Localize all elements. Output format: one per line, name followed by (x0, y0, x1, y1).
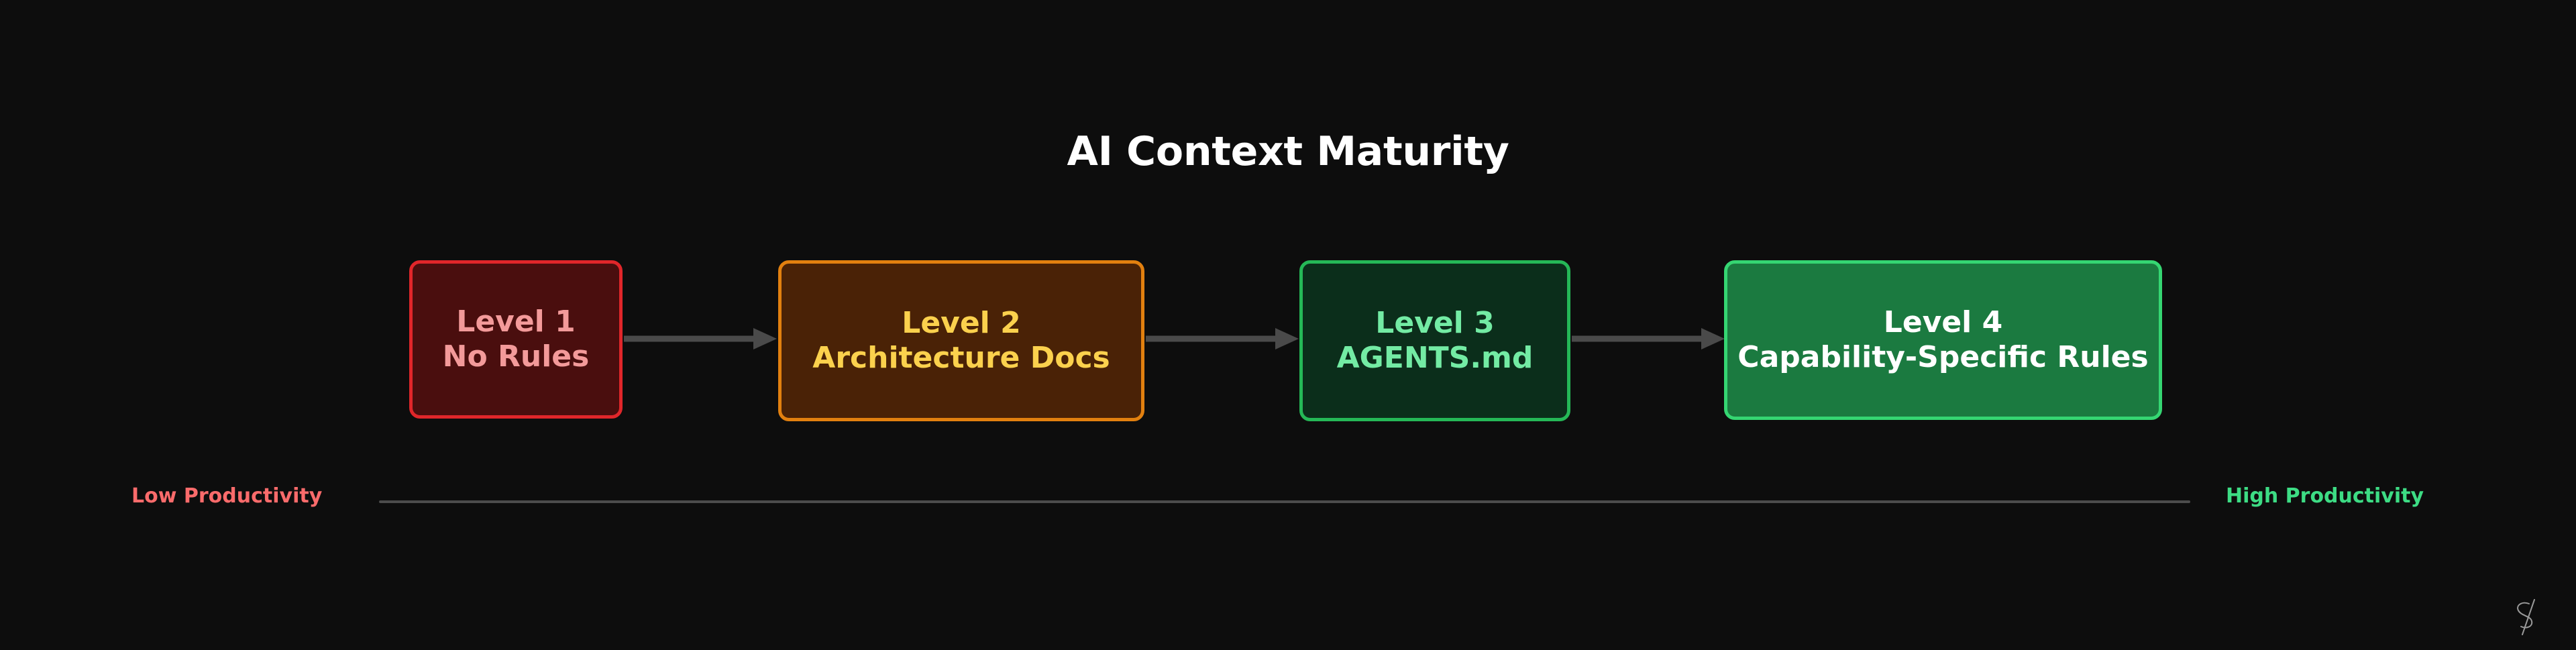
stage-3-subtitle: AGENTS.md (1337, 341, 1534, 376)
arrow-level2-to-level3 (1146, 325, 1299, 352)
signature-watermark-icon (2509, 597, 2544, 639)
diagram-canvas: AI Context Maturity Level 1 No Rules Lev… (0, 0, 2576, 650)
stage-box-level-1[interactable]: Level 1 No Rules (409, 260, 623, 419)
low-productivity-label: Low Productivity (131, 486, 322, 506)
stage-3-title: Level 3 (1375, 306, 1494, 341)
high-productivity-label: High Productivity (2226, 486, 2424, 506)
stage-4-subtitle: Capability-Specific Rules (1737, 340, 2148, 375)
stage-4-title: Level 4 (1884, 305, 2002, 340)
page-title: AI Context Maturity (0, 131, 2576, 172)
stage-box-level-3[interactable]: Level 3 AGENTS.md (1299, 260, 1570, 421)
arrow-level3-to-level4 (1572, 325, 1725, 352)
stage-2-title: Level 2 (902, 306, 1020, 341)
arrow-level1-to-level2 (624, 325, 777, 352)
productivity-spectrum-line (379, 500, 2190, 503)
stage-box-level-4[interactable]: Level 4 Capability-Specific Rules (1724, 260, 2162, 420)
stage-box-level-2[interactable]: Level 2 Architecture Docs (778, 260, 1144, 421)
stage-1-title: Level 1 (456, 305, 575, 339)
stage-1-subtitle: No Rules (443, 339, 590, 374)
stage-2-subtitle: Architecture Docs (812, 341, 1110, 376)
